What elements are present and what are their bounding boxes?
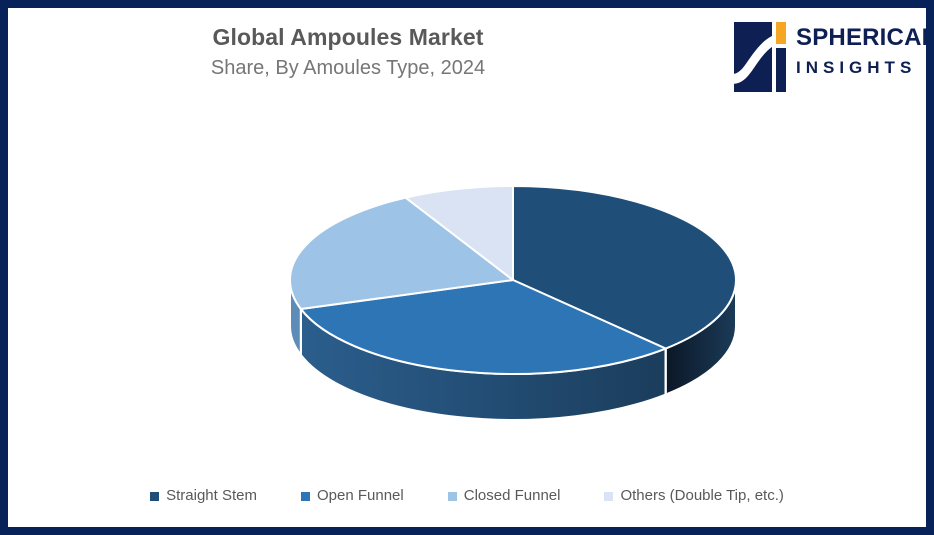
legend-item[interactable]: Straight Stem	[150, 487, 257, 505]
chart-canvas: Global Ampoules Market Share, By Amoules…	[8, 8, 926, 527]
legend-item[interactable]: Open Funnel	[301, 487, 404, 505]
legend-item[interactable]: Closed Funnel	[448, 487, 561, 505]
legend-item-label: Straight Stem	[166, 487, 257, 505]
chart-legend: Straight StemOpen FunnelClosed FunnelOth…	[8, 487, 926, 505]
legend-swatch-icon	[301, 492, 310, 501]
legend-item-label: Closed Funnel	[464, 487, 561, 505]
legend-item-label: Others (Double Tip, etc.)	[620, 487, 783, 505]
pie-slices	[290, 186, 736, 420]
chart-frame: Global Ampoules Market Share, By Amoules…	[0, 0, 934, 535]
legend-swatch-icon	[150, 492, 159, 501]
pie-chart	[8, 8, 926, 478]
legend-swatch-icon	[448, 492, 457, 501]
legend-item[interactable]: Others (Double Tip, etc.)	[604, 487, 783, 505]
legend-swatch-icon	[604, 492, 613, 501]
legend-item-label: Open Funnel	[317, 487, 404, 505]
pie-chart-svg	[8, 8, 926, 478]
